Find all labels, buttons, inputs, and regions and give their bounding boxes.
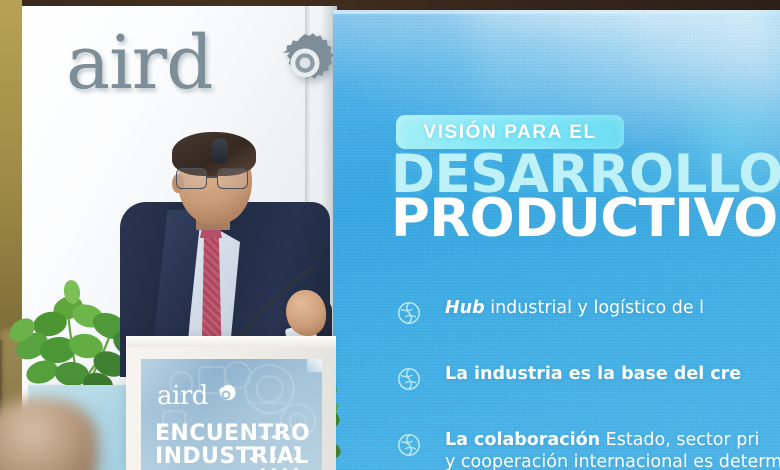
eyeglasses [176, 168, 254, 190]
gear-icon [215, 384, 237, 406]
podium: aird ENCUENTRO INDUSTRIAL [126, 336, 336, 470]
bullet-rest: industrial y logístico de l [485, 298, 704, 318]
photo-scene: aird VISIÓN PARA EL DESARROLLO PRODUCTIV… [0, 0, 780, 470]
podium-top-edge [126, 336, 336, 347]
microphone-capsule [212, 138, 228, 164]
bullet-lead: Hub [445, 298, 485, 318]
globe-circle-icon [397, 301, 421, 325]
slide-content: VISIÓN PARA EL DESARROLLO PRODUCTIVO Hub… [333, 10, 780, 470]
podium-branding-panel: aird ENCUENTRO INDUSTRIAL [141, 359, 322, 470]
glasses-bridge [207, 176, 217, 178]
slide-bullet-text: La industria es la base del cre [445, 364, 780, 386]
slide-bullet-item: La colaboración Estado, sector priy coop… [391, 430, 780, 470]
slide-bullet-list: Hub industrial y logístico de l La indus… [391, 298, 780, 470]
bullet-lead: La industria es la base del cre [445, 364, 741, 384]
panel-corner-highlight [307, 359, 322, 372]
slide-badge-label: VISIÓN PARA EL [396, 122, 624, 144]
led-presentation-screen: VISIÓN PARA EL DESARROLLO PRODUCTIVO Hub… [333, 10, 780, 470]
gear-icon [274, 32, 336, 94]
slide-bullet-text: La colaboración Estado, sector priy coop… [445, 430, 780, 470]
slide-bullet-text: Hub industrial y logístico de l [445, 298, 780, 320]
aird-wall-logo: aird [66, 28, 316, 100]
slide-bullet-item: La industria es la base del cre [391, 364, 780, 394]
lens-left [176, 168, 207, 189]
lens-right [217, 168, 248, 189]
dot-grid-decoration [248, 433, 308, 470]
globe-circle-icon [397, 433, 421, 457]
slide-bullet-item: Hub industrial y logístico de l [391, 298, 780, 328]
bullet-lead: La colaboración [445, 430, 600, 450]
aird-podium-wordmark: aird [157, 383, 208, 409]
slide-headline-2: PRODUCTIVO [391, 194, 778, 244]
bullet-rest: Estado, sector pri [600, 430, 759, 450]
aird-wordmark: aird [66, 20, 213, 106]
globe-circle-icon [397, 367, 421, 391]
bullet-line2: y cooperación internacional es determi [445, 452, 780, 470]
aird-podium-logo: aird [157, 383, 208, 409]
hand-gesture [286, 290, 326, 336]
